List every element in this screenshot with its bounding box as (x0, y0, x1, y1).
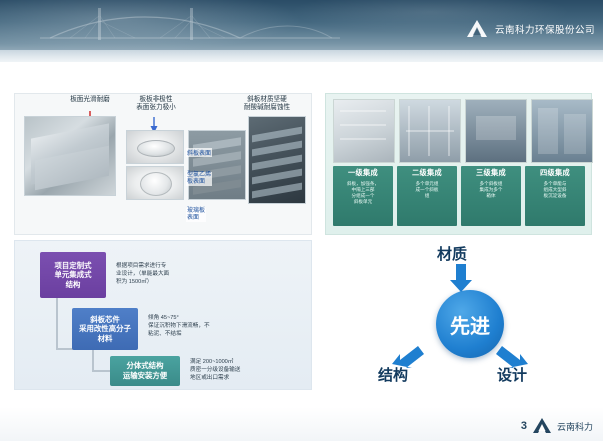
feature-note-3: 满足 200~1000㎡ 质密一分级设备输送 地区或出口需求 (190, 358, 286, 382)
feature-box-3: 分体式结构 运输安装方便 (110, 356, 180, 386)
card-desc-3: 多个斜板组 集成为多个 箱体 (464, 181, 518, 200)
header-logo: 云南科力环保股份公司 (464, 18, 595, 40)
company-logo-icon (464, 18, 490, 40)
card-title-1: 一级集成 (336, 169, 390, 178)
page-number: 3 (521, 420, 527, 432)
diagram-arrows (370, 258, 550, 388)
card-desc-2: 多个单元组 成一个斜板 组 (400, 181, 454, 200)
flow-connector-1 (56, 298, 58, 350)
card-title-4: 四级集成 (528, 169, 582, 178)
flow-connector-4 (92, 370, 112, 372)
slide-root: 云南科力环保股份公司 板面光滑耐磨 板板非极性 表面张力极小 斜板材质坚硬 耐酸… (0, 0, 603, 441)
integration-photo-row (333, 99, 593, 163)
flow-connector-3 (92, 350, 94, 372)
card-desc-1: 斜板，加强条， 中隔上三部 分组成一个 斜板单元 (336, 181, 390, 206)
feature-note-1: 根据项目需求进行专 业设计，（单能最大面 积为 1500㎡） (116, 262, 200, 286)
integration-card-2: 二级集成 多个单元组 成一个斜板 组 (397, 166, 457, 226)
company-name: 云南科力环保股份公司 (495, 22, 595, 36)
card-desc-4: 多个单能与 组成大型斜 板沉淀设备 (528, 181, 582, 200)
card-title-2: 二级集成 (400, 169, 454, 178)
slide-footer: 3 云南科力 (0, 407, 603, 441)
integration-card-row: 一级集成 斜板，加强条， 中隔上三部 分组成一个 斜板单元 二级集成 多个单元组… (333, 166, 585, 226)
photo-inclined-plate (24, 116, 116, 196)
integration-card-4: 四级集成 多个单能与 组成大型斜 板沉淀设备 (525, 166, 585, 226)
integration-card-3: 三级集成 多个斜板组 集成为多个 箱体 (461, 166, 521, 226)
feature-box-2: 斜板芯件 采用改性高分子 材料 (72, 308, 138, 350)
card-title-3: 三级集成 (464, 169, 518, 178)
inner-label-1: 斜板表面 (186, 148, 212, 157)
photo-plate-stack (188, 130, 246, 200)
integration-photo-1 (333, 99, 395, 163)
photo-equipment (248, 116, 306, 204)
footer-logo: 3 云南科力 (521, 417, 593, 435)
integration-photo-2 (399, 99, 461, 163)
slide-header: 云南科力环保股份公司 (0, 0, 603, 62)
photo-droplet-a (126, 130, 184, 164)
header-strip (0, 50, 603, 62)
integration-card-1: 一级集成 斜板，加强条， 中隔上三部 分组成一个 斜板单元 (333, 166, 393, 226)
footer-logo-icon (531, 417, 553, 435)
inner-label-2: 型氯乙烯 板表面 (186, 172, 212, 186)
callout-1: 板面光滑耐磨 (54, 96, 126, 104)
bridge-photo (40, 4, 340, 48)
integration-photo-4 (531, 99, 593, 163)
footer-brand: 云南科力 (557, 420, 593, 433)
integration-photo-3 (465, 99, 527, 163)
feature-box-1: 项目定制式 单元集成式 结构 (40, 252, 106, 298)
inner-label-3: 玻璃板 表面 (186, 208, 206, 222)
photo-droplet-b (126, 166, 184, 200)
feature-note-2: 倾角 45~75° 保证沉积物下滑流畅，不 粘泥、不结垢 (148, 314, 236, 338)
